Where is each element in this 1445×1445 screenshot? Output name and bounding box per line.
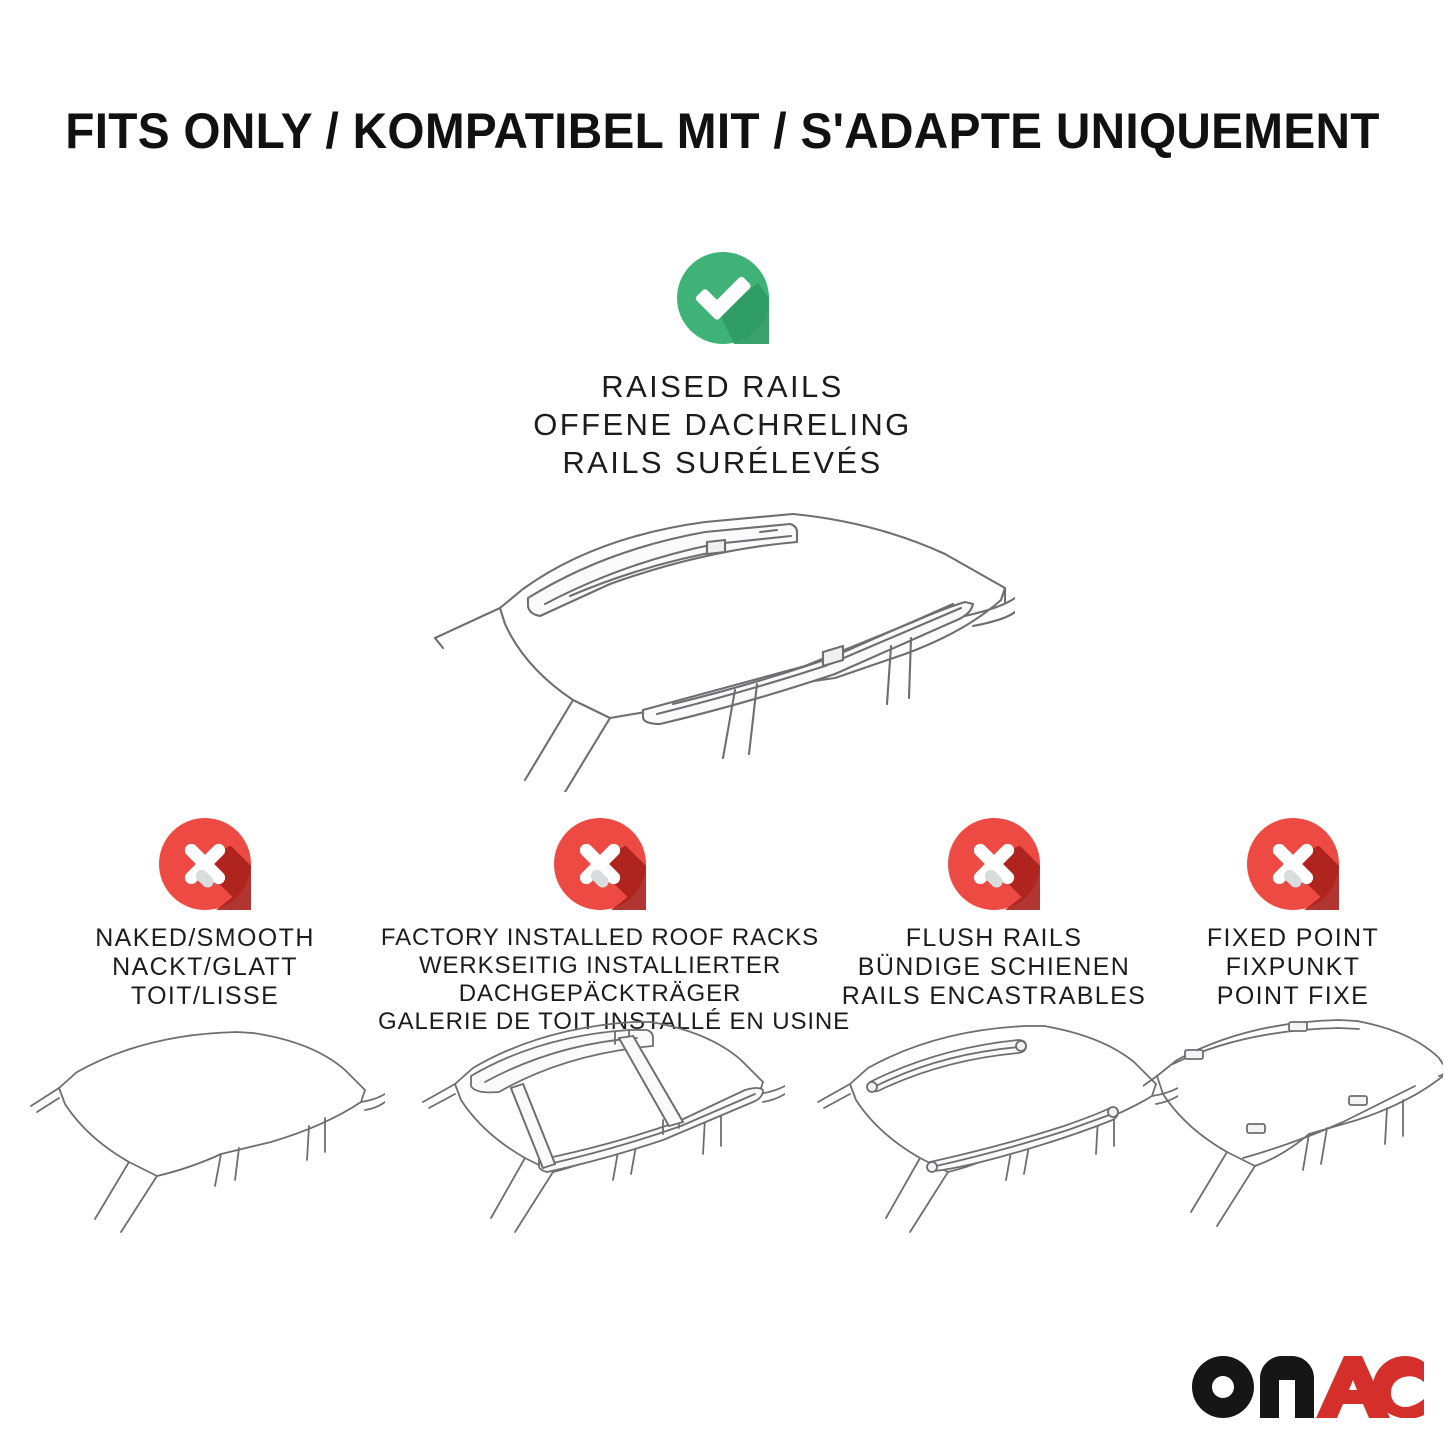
- incompatible-label-en: FACTORY INSTALLED ROOF RACKS: [378, 924, 822, 952]
- product-compatibility-infographic: FITS ONLY / KOMPATIBEL MIT / S'ADAPTE UN…: [0, 0, 1445, 1445]
- car-roof-naked-smooth-illustration: [25, 1014, 385, 1244]
- omac-logo-red-part: [1316, 1356, 1424, 1418]
- car-roof-raised-rails-illustration: [405, 492, 1015, 792]
- car-roof-factory-roof-rack-illustration: [415, 1006, 785, 1246]
- incompatible-section: NAKED/SMOOTH NACKT/GLATT TOIT/LISSE: [0, 818, 1445, 1318]
- compatible-labels: RAISED RAILS OFFENE DACHRELING RAILS SUR…: [0, 368, 1445, 482]
- green-check-icon: [677, 252, 769, 344]
- compatible-label-en: RAISED RAILS: [0, 368, 1445, 406]
- incompatible-label-de: BÜNDIGE SCHIENEN: [820, 953, 1168, 982]
- red-x-icon: [159, 818, 251, 910]
- incompatible-item-naked-smooth: NAKED/SMOOTH NACKT/GLATT TOIT/LISSE: [30, 818, 380, 1011]
- incompatible-label-en: FIXED POINT: [1148, 924, 1438, 953]
- page-title: FITS ONLY / KOMPATIBEL MIT / S'ADAPTE UN…: [33, 103, 1413, 159]
- incompatible-item-flush-rails: FLUSH RAILS BÜNDIGE SCHIENEN RAILS ENCAS…: [820, 818, 1168, 1011]
- incompatible-label-de-1: WERKSEITIG INSTALLIERTER: [378, 952, 822, 980]
- red-x-icon: [554, 818, 646, 910]
- incompatible-labels: FIXED POINT FIXPUNKT POINT FIXE: [1148, 924, 1438, 1011]
- incompatible-label-de: NACKT/GLATT: [30, 953, 380, 982]
- car-roof-flush-rails-illustration: [810, 1004, 1178, 1244]
- incompatible-label-fr: TOIT/LISSE: [30, 982, 380, 1011]
- compatible-section: RAISED RAILS OFFENE DACHRELING RAILS SUR…: [0, 252, 1445, 482]
- car-roof-fixed-point-illustration: [1143, 1004, 1443, 1244]
- incompatible-item-fixed-point: FIXED POINT FIXPUNKT POINT FIXE: [1148, 818, 1438, 1011]
- omac-logo-dark-part: [1192, 1356, 1314, 1418]
- incompatible-label-de-2: DACHGEPÄCKTRÄGER: [378, 980, 822, 1008]
- red-x-icon: [1247, 818, 1339, 910]
- compatible-label-fr: RAILS SURÉLEVÉS: [0, 444, 1445, 482]
- compatible-label-de: OFFENE DACHRELING: [0, 406, 1445, 444]
- incompatible-label-en: NAKED/SMOOTH: [30, 924, 380, 953]
- incompatible-labels: NAKED/SMOOTH NACKT/GLATT TOIT/LISSE: [30, 924, 380, 1011]
- red-x-icon: [948, 818, 1040, 910]
- incompatible-item-factory-roof-rack: FACTORY INSTALLED ROOF RACKS WERKSEITIG …: [378, 818, 822, 1036]
- omac-logo: [1192, 1356, 1424, 1418]
- incompatible-labels: FLUSH RAILS BÜNDIGE SCHIENEN RAILS ENCAS…: [820, 924, 1168, 1011]
- incompatible-label-de: FIXPUNKT: [1148, 953, 1438, 982]
- incompatible-label-en: FLUSH RAILS: [820, 924, 1168, 953]
